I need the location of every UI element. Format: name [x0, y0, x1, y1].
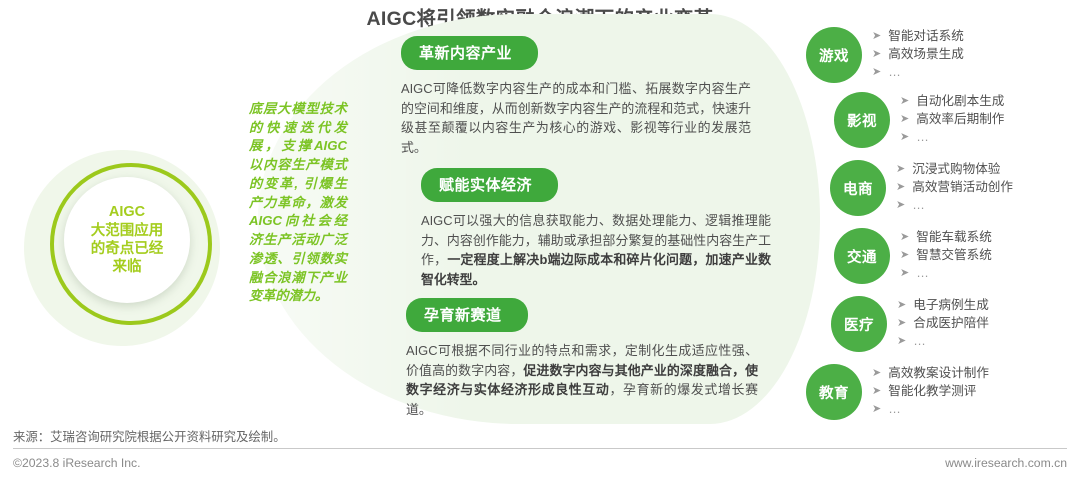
industry-item-label: 高效教案设计制作	[888, 365, 989, 383]
industry-item-label: 合成医护陪伴	[913, 315, 989, 333]
industry-item-label: 智能车载系统	[916, 229, 992, 247]
arrow-bullet-icon: ➤	[896, 179, 905, 196]
block-1-pill-label: 革新内容产业	[401, 36, 538, 70]
industry-items-5: ➤高效教案设计制作➤智能化教学测评➤…	[872, 365, 989, 419]
industry-item: ➤…	[900, 265, 992, 283]
content-block-3: 孕育新赛道 AIGC可根据不同行业的特点和需求，定制化生成适应性强、价值高的数字…	[406, 298, 758, 419]
industry-item: ➤…	[897, 333, 989, 351]
center-circle-core: AIGC 大范围应用 的奇点已经 来临	[64, 177, 190, 303]
industry-item-label: …	[913, 333, 927, 351]
industry-item: ➤电子病例生成	[897, 297, 989, 315]
industry-item: ➤自动化剧本生成	[900, 93, 1004, 111]
block-3-paragraph: AIGC可根据不同行业的特点和需求，定制化生成适应性强、价值高的数字内容，促进数…	[406, 341, 758, 419]
industry-group-1: 影视 ➤自动化剧本生成➤高效率后期制作➤…	[834, 92, 1004, 148]
block-2-paragraph: AIGC可以强大的信息获取能力、数据处理能力、逻辑推理能力、内容创作能力，辅助或…	[421, 211, 771, 289]
industry-group-4: 医疗 ➤电子病例生成➤合成医护陪伴➤…	[831, 296, 989, 352]
arrow-bullet-icon: ➤	[900, 265, 909, 282]
block-2-pill-label: 赋能实体经济	[421, 168, 558, 202]
industry-item-label: 高效场景生成	[888, 46, 964, 64]
industry-item-label: …	[916, 265, 930, 283]
website-link[interactable]: www.iresearch.com.cn	[945, 456, 1067, 470]
industry-item-label: …	[912, 197, 926, 215]
arrow-bullet-icon: ➤	[872, 401, 881, 418]
industry-item: ➤…	[900, 129, 1004, 147]
industry-item: ➤沉浸式购物体验	[896, 161, 1013, 179]
center-circle-line-en: AIGC	[91, 203, 164, 221]
industry-item: ➤…	[872, 64, 964, 82]
content-block-1: 革新内容产业 AIGC可降低数字内容生产的成本和门槛、拓展数字内容生产的空间和维…	[401, 36, 751, 157]
industry-item: ➤…	[872, 401, 989, 419]
arrow-bullet-icon: ➤	[897, 315, 906, 332]
industry-group-3: 交通 ➤智能车载系统➤智慧交管系统➤…	[834, 228, 992, 284]
industry-item: ➤高效率后期制作	[900, 111, 1004, 129]
industry-group-2: 电商 ➤沉浸式购物体验➤高效营销活动创作➤…	[830, 160, 1013, 216]
arrow-bullet-icon: ➤	[897, 297, 906, 314]
arrow-bullet-icon: ➤	[897, 333, 906, 350]
arrow-bullet-icon: ➤	[872, 28, 881, 45]
industry-item: ➤合成医护陪伴	[897, 315, 989, 333]
copyright-note: ©2023.8 iResearch Inc.	[13, 456, 141, 470]
industry-item-label: 电子病例生成	[913, 297, 989, 315]
block-3-pill-label: 孕育新赛道	[406, 298, 528, 332]
industry-item: ➤智慧交管系统	[900, 247, 992, 265]
footer-divider	[13, 448, 1067, 449]
arrow-bullet-icon: ➤	[900, 129, 909, 146]
arrow-bullet-icon: ➤	[872, 365, 881, 382]
industry-group-0: 游戏 ➤智能对话系统➤高效场景生成➤…	[806, 27, 964, 83]
industry-badge-5: 教育	[806, 364, 862, 420]
industry-item-label: …	[916, 129, 930, 147]
center-circle-line-1: 大范围应用	[91, 222, 164, 240]
industry-item-label: 高效率后期制作	[916, 111, 1004, 129]
content-block-2: 赋能实体经济 AIGC可以强大的信息获取能力、数据处理能力、逻辑推理能力、内容创…	[421, 168, 771, 289]
industry-items-0: ➤智能对话系统➤高效场景生成➤…	[872, 28, 964, 82]
industry-items-4: ➤电子病例生成➤合成医护陪伴➤…	[897, 297, 989, 351]
center-circle-text: AIGC 大范围应用 的奇点已经 来临	[91, 203, 164, 276]
industry-item: ➤…	[896, 197, 1013, 215]
industry-item: ➤高效营销活动创作	[896, 179, 1013, 197]
arrow-bullet-icon: ➤	[900, 111, 909, 128]
arrow-bullet-icon: ➤	[896, 161, 905, 178]
arrow-bullet-icon: ➤	[872, 383, 881, 400]
arrow-bullet-icon: ➤	[900, 229, 909, 246]
industry-badge-1: 影视	[834, 92, 890, 148]
source-note: 来源：艾瑞咨询研究院根据公开资料研究及绘制。	[13, 427, 286, 445]
industry-item-label: 智慧交管系统	[916, 247, 992, 265]
industry-item: ➤高效场景生成	[872, 46, 964, 64]
industry-items-3: ➤智能车载系统➤智慧交管系统➤…	[900, 229, 992, 283]
industry-badge-0: 游戏	[806, 27, 862, 83]
industry-item: ➤高效教案设计制作	[872, 365, 989, 383]
arrow-bullet-icon: ➤	[896, 197, 905, 214]
industry-item-label: 智能化教学测评	[888, 383, 976, 401]
arrow-bullet-icon: ➤	[872, 64, 881, 81]
industry-badge-4: 医疗	[831, 296, 887, 352]
arrow-bullet-icon: ➤	[872, 46, 881, 63]
industry-item-label: 智能对话系统	[888, 28, 964, 46]
industry-item: ➤智能化教学测评	[872, 383, 989, 401]
industry-items-2: ➤沉浸式购物体验➤高效营销活动创作➤…	[896, 161, 1013, 215]
infographic-page: AIGC将引领数实融合浪潮下的产业变革 AIGC 大范围应用 的奇点已经 来临 …	[0, 0, 1080, 477]
arrow-bullet-icon: ➤	[900, 247, 909, 264]
center-circle-line-3: 来临	[91, 258, 164, 276]
industry-badge-3: 交通	[834, 228, 890, 284]
arrow-bullet-icon: ➤	[900, 93, 909, 110]
industry-item-label: …	[888, 401, 902, 419]
industry-item: ➤智能车载系统	[900, 229, 992, 247]
industry-item: ➤智能对话系统	[872, 28, 964, 46]
lead-paragraph: 底层大模型技术的快速迭代发展，支撑AIGC以内容生产模式的变革, 引爆生产力革命…	[249, 100, 347, 306]
center-circle-line-2: 的奇点已经	[91, 240, 164, 258]
industry-items-1: ➤自动化剧本生成➤高效率后期制作➤…	[900, 93, 1004, 147]
industry-group-5: 教育 ➤高效教案设计制作➤智能化教学测评➤…	[806, 364, 989, 420]
industry-item-label: 自动化剧本生成	[916, 93, 1004, 111]
industry-badge-2: 电商	[830, 160, 886, 216]
industry-item-label: 高效营销活动创作	[912, 179, 1013, 197]
industry-item-label: …	[888, 64, 902, 82]
industry-item-label: 沉浸式购物体验	[912, 161, 1000, 179]
block-1-paragraph: AIGC可降低数字内容生产的成本和门槛、拓展数字内容生产的空间和维度，从而创新数…	[401, 79, 751, 157]
